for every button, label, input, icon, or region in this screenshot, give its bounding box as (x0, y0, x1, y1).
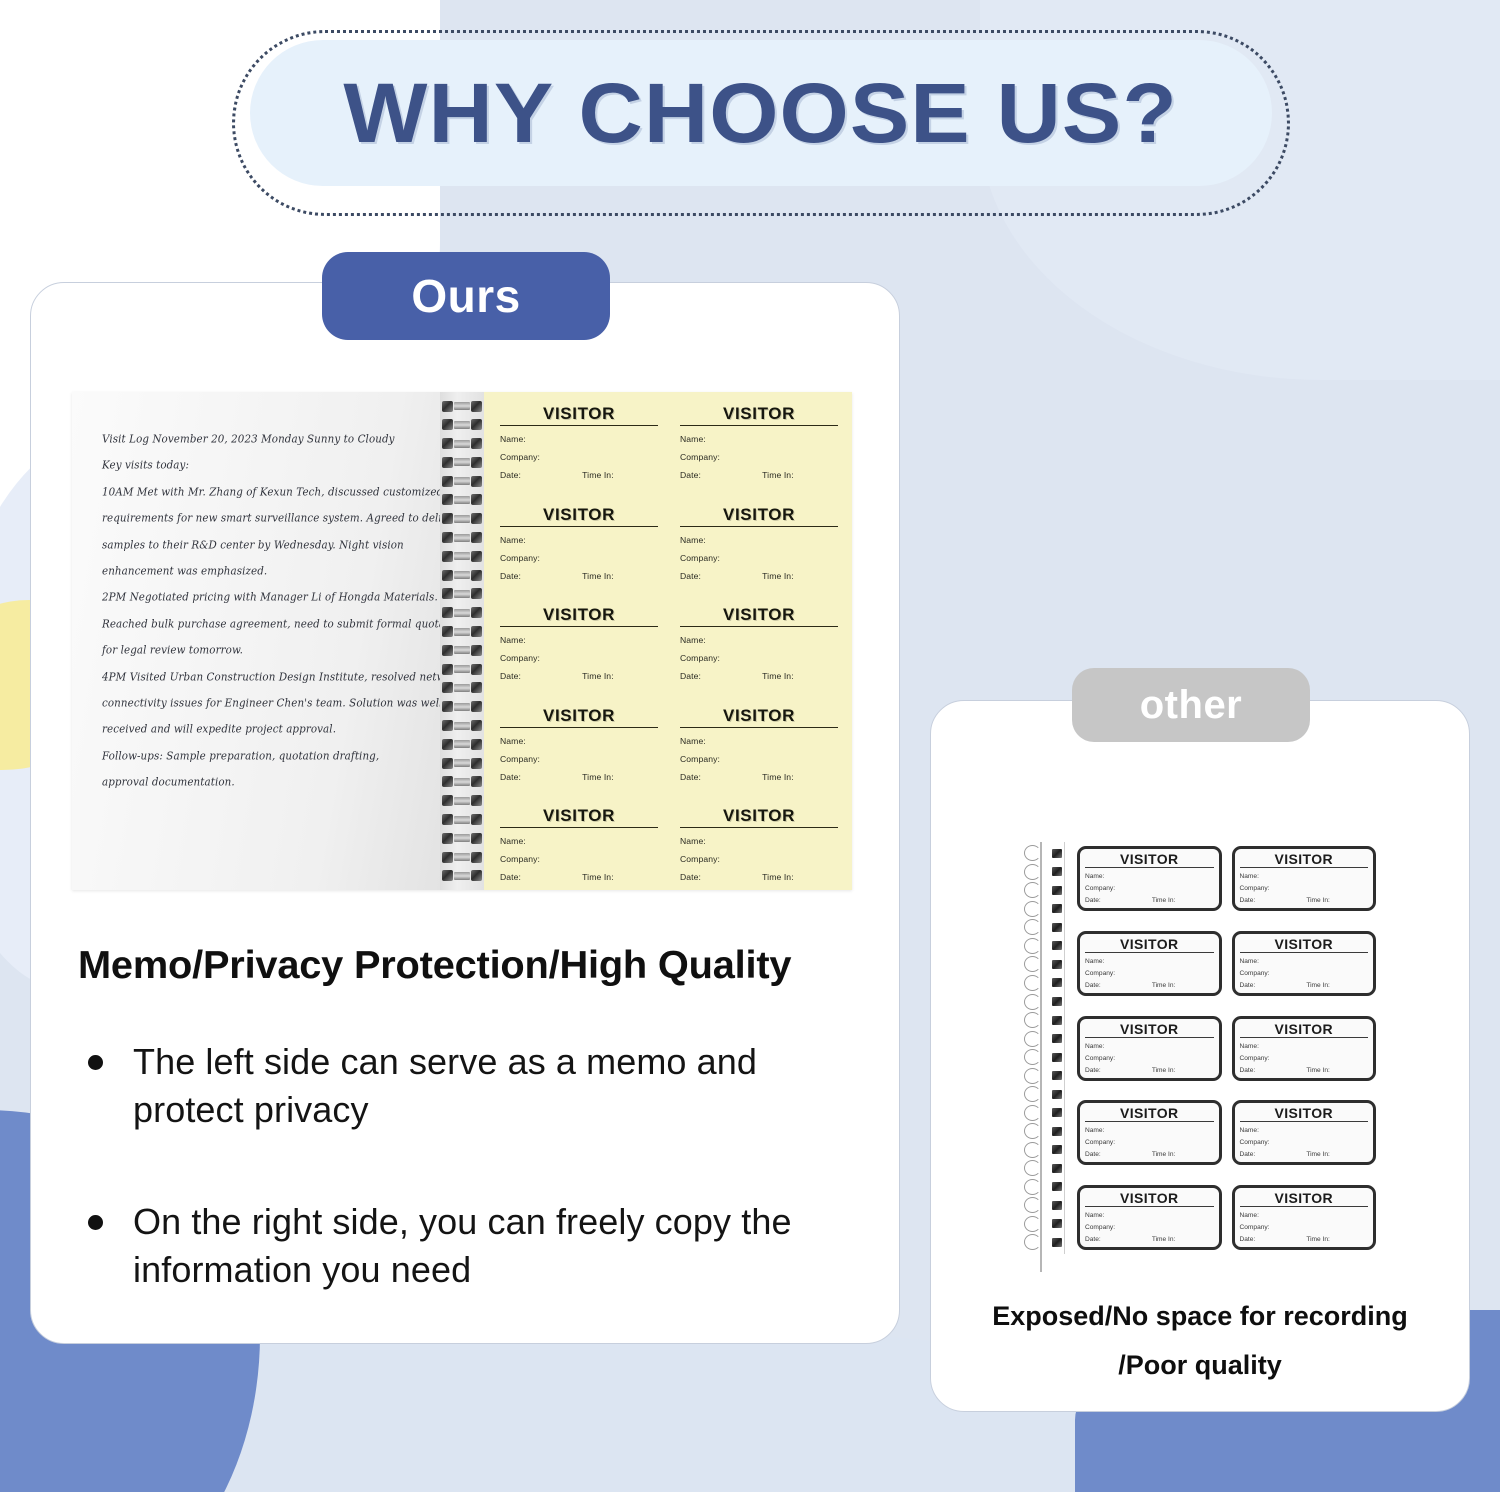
spiral-coil-wire (454, 402, 470, 410)
visitor-badge-row: VISITORName:Company:Date:Time In:VISITOR… (500, 706, 838, 782)
spiral-coil-wire (454, 477, 470, 485)
visitor-badge-title: VISITOR (1085, 1021, 1214, 1038)
visitor-field-date: Date: (1240, 1236, 1307, 1243)
page-title-banner: WHY CHOOSE US? (250, 40, 1272, 186)
visitor-field-company: Company: (1240, 1055, 1369, 1062)
visitor-field-time-in: Time In: (762, 671, 794, 681)
visitor-badge-card: VISITORName:Company:Date:Time In: (1232, 931, 1377, 996)
spiral-coil-icon (442, 776, 482, 788)
spiral-coil-icon (442, 607, 482, 619)
spiral-coil-icon (442, 757, 482, 769)
visitor-field-name: Name: (680, 535, 838, 545)
visitor-field-company: Company: (1240, 1224, 1369, 1231)
feature-bullet-text: The left side can serve as a memo and pr… (133, 1038, 838, 1134)
visitor-badge-card: VISITORName:Company:Date:Time In: (680, 605, 838, 681)
visitor-field-name: Name: (1240, 1212, 1369, 1219)
spiral-coil-wire (454, 628, 470, 636)
spiral-coil-icon (1024, 1105, 1062, 1121)
visitor-badge-card: VISITORName:Company:Date:Time In: (500, 404, 658, 480)
ours-notebook-photo: Visit Log November 20, 2023 Monday Sunny… (72, 392, 852, 890)
visitor-field-company: Company: (680, 754, 838, 764)
visitor-field-date: Date: (680, 671, 762, 681)
spiral-coil-wire (454, 440, 470, 448)
visitor-badge-row: VISITORName:Company:Date:Time In:VISITOR… (500, 806, 838, 882)
memo-line: Key visits today: (102, 451, 426, 481)
memo-line: for legal review tomorrow. (102, 636, 426, 666)
visitor-badge-card: VISITORName:Company:Date:Time In: (1077, 1185, 1222, 1250)
visitor-field-name: Name: (500, 836, 658, 846)
visitor-field-time-in: Time In: (1152, 897, 1176, 904)
spiral-coil-wire (454, 853, 470, 861)
spiral-coil-icon (442, 550, 482, 562)
visitor-field-company: Company: (500, 553, 658, 563)
ours-feature-list: The left side can serve as a memo and pr… (78, 1038, 838, 1358)
memo-line: 2PM Negotiated pricing with Manager Li o… (102, 583, 426, 613)
visitor-field-company: Company: (680, 553, 838, 563)
spiral-coil-icon (442, 644, 482, 656)
spiral-coil-icon (442, 475, 482, 487)
spiral-coil-wire (454, 609, 470, 617)
page-title: WHY CHOOSE US? (344, 65, 1178, 162)
spiral-coil-wire (454, 778, 470, 786)
visitor-badge-title: VISITOR (1240, 936, 1369, 953)
visitor-field-date: Date: (1240, 1067, 1307, 1074)
spiral-coil-icon (1024, 882, 1062, 898)
visitor-field-time-in: Time In: (582, 772, 614, 782)
visitor-field-company: Company: (1085, 1139, 1214, 1146)
visitor-field-row: Date:Time In: (500, 571, 658, 581)
visitor-field-name: Name: (1085, 1127, 1214, 1134)
spiral-coil-wire (454, 759, 470, 767)
visitor-field-row: Date:Time In: (680, 671, 838, 681)
visitor-field-row: Date:Time In: (1085, 1151, 1214, 1158)
visitor-badge-card: VISITORName:Company:Date:Time In: (1232, 1185, 1377, 1250)
spiral-coil-wire (454, 534, 470, 542)
visitor-field-name: Name: (1085, 958, 1214, 965)
spiral-coil-icon (442, 832, 482, 844)
visitor-field-name: Name: (1240, 1127, 1369, 1134)
visitor-field-row: Date:Time In: (680, 571, 838, 581)
visitor-badge-title: VISITOR (1085, 851, 1214, 868)
other-caption-line-2: /Poor quality (930, 1341, 1470, 1390)
visitor-field-row: Date:Time In: (1240, 1151, 1369, 1158)
visitor-field-row: Date:Time In: (1240, 1236, 1369, 1243)
memo-line: approval documentation. (102, 768, 426, 798)
visitor-field-company: Company: (1085, 885, 1214, 892)
ours-visitor-badge-page: VISITORName:Company:Date:Time In:VISITOR… (484, 392, 852, 890)
visitor-field-company: Company: (500, 854, 658, 864)
ours-badge-label: Ours (411, 269, 520, 323)
visitor-field-row: Date:Time In: (1085, 982, 1214, 989)
visitor-field-time-in: Time In: (1152, 982, 1176, 989)
visitor-badge-title: VISITOR (500, 605, 658, 627)
visitor-badge-title: VISITOR (1085, 936, 1214, 953)
spiral-coil-icon (1024, 1234, 1062, 1250)
spiral-coil-wire (454, 684, 470, 692)
visitor-field-company: Company: (680, 653, 838, 663)
spiral-coil-icon (1024, 1068, 1062, 1084)
bullet-dot-icon (88, 1215, 103, 1230)
spiral-coil-icon (1024, 1086, 1062, 1102)
visitor-badge-title: VISITOR (680, 605, 838, 627)
visitor-field-time-in: Time In: (1152, 1236, 1176, 1243)
visitor-badge-card: VISITORName:Company:Date:Time In: (680, 505, 838, 581)
visitor-badge-card: VISITORName:Company:Date:Time In: (1077, 846, 1222, 911)
spiral-coil-icon (442, 588, 482, 600)
visitor-field-time-in: Time In: (762, 571, 794, 581)
visitor-badge-card: VISITORName:Company:Date:Time In: (680, 404, 838, 480)
spiral-coil-icon (442, 682, 482, 694)
visitor-field-row: Date:Time In: (1085, 1236, 1214, 1243)
spiral-coil-wire (454, 496, 470, 504)
spiral-coil-icon (442, 419, 482, 431)
visitor-badge-title: VISITOR (1240, 1190, 1369, 1207)
visitor-badge-row: VISITORName:Company:Date:Time In:VISITOR… (1077, 1185, 1376, 1250)
memo-line: Reached bulk purchase agreement, need to… (102, 609, 426, 639)
visitor-field-company: Company: (1085, 1055, 1214, 1062)
visitor-badge-card: VISITORName:Company:Date:Time In: (1232, 846, 1377, 911)
spiral-coil-wire (454, 872, 470, 880)
other-visitor-badge-page: VISITORName:Company:Date:Time In:VISITOR… (1064, 842, 1382, 1254)
visitor-field-date: Date: (1085, 1236, 1152, 1243)
spiral-coil-wire (454, 797, 470, 805)
visitor-field-company: Company: (680, 452, 838, 462)
visitor-field-name: Name: (500, 535, 658, 545)
visitor-field-date: Date: (1240, 1151, 1307, 1158)
spiral-coil-icon (442, 870, 482, 882)
spiral-coil-wire (454, 646, 470, 654)
visitor-field-time-in: Time In: (1152, 1151, 1176, 1158)
visitor-field-name: Name: (1085, 873, 1214, 880)
visitor-field-row: Date:Time In: (1085, 1067, 1214, 1074)
feature-bullet-text: On the right side, you can freely copy t… (133, 1198, 838, 1294)
other-caption-line-1: Exposed/No space for recording (930, 1292, 1470, 1341)
spiral-coil-wire (454, 571, 470, 579)
feature-bullet: The left side can serve as a memo and pr… (78, 1038, 838, 1134)
other-label-badge: other (1072, 668, 1310, 742)
spiral-coil-icon (442, 851, 482, 863)
spiral-coil-icon (1024, 1031, 1062, 1047)
visitor-field-company: Company: (1240, 885, 1369, 892)
memo-line: 4PM Visited Urban Construction Design In… (102, 662, 426, 692)
visitor-field-time-in: Time In: (1306, 897, 1330, 904)
spiral-coil-icon (442, 569, 482, 581)
visitor-badge-title: VISITOR (1240, 1105, 1369, 1122)
visitor-field-time-in: Time In: (582, 671, 614, 681)
visitor-field-time-in: Time In: (762, 772, 794, 782)
visitor-field-company: Company: (1085, 1224, 1214, 1231)
other-badge-label: other (1140, 683, 1243, 728)
spiral-coil-icon (1024, 1216, 1062, 1232)
visitor-field-row: Date:Time In: (1240, 897, 1369, 904)
spiral-coil-icon (1024, 938, 1062, 954)
visitor-field-time-in: Time In: (1152, 1067, 1176, 1074)
visitor-field-name: Name: (680, 836, 838, 846)
visitor-badge-title: VISITOR (1240, 851, 1369, 868)
spiral-coil-wire (454, 665, 470, 673)
visitor-badge-title: VISITOR (680, 706, 838, 728)
visitor-field-name: Name: (680, 635, 838, 645)
visitor-field-company: Company: (500, 754, 658, 764)
visitor-field-row: Date:Time In: (1085, 897, 1214, 904)
visitor-badge-title: VISITOR (680, 505, 838, 527)
spiral-coil-icon (442, 701, 482, 713)
visitor-badge-title: VISITOR (1240, 1021, 1369, 1038)
feature-bullet: On the right side, you can freely copy t… (78, 1198, 838, 1294)
visitor-field-company: Company: (1085, 970, 1214, 977)
visitor-badge-card: VISITORName:Company:Date:Time In: (500, 706, 658, 782)
visitor-badge-title: VISITOR (500, 505, 658, 527)
visitor-field-name: Name: (1240, 958, 1369, 965)
visitor-field-date: Date: (1240, 982, 1307, 989)
visitor-field-name: Name: (500, 736, 658, 746)
visitor-badge-card: VISITORName:Company:Date:Time In: (1232, 1016, 1377, 1081)
visitor-field-name: Name: (1240, 1043, 1369, 1050)
visitor-field-row: Date:Time In: (500, 671, 658, 681)
visitor-badge-card: VISITORName:Company:Date:Time In: (1077, 1100, 1222, 1165)
memo-line: requirements for new smart surveillance … (102, 504, 426, 534)
visitor-field-row: Date:Time In: (500, 872, 658, 882)
spiral-coil-icon (1024, 1123, 1062, 1139)
visitor-field-date: Date: (500, 470, 582, 480)
visitor-badge-title: VISITOR (500, 806, 658, 828)
visitor-badge-card: VISITORName:Company:Date:Time In: (500, 505, 658, 581)
visitor-field-date: Date: (1085, 1151, 1152, 1158)
visitor-field-row: Date:Time In: (1240, 982, 1369, 989)
spiral-coil-wire (454, 722, 470, 730)
spiral-coil-icon (1024, 975, 1062, 991)
visitor-field-row: Date:Time In: (1240, 1067, 1369, 1074)
spiral-coil-icon (442, 795, 482, 807)
visitor-field-time-in: Time In: (582, 571, 614, 581)
visitor-field-company: Company: (680, 854, 838, 864)
spiral-coil-icon (442, 532, 482, 544)
visitor-field-name: Name: (1085, 1043, 1214, 1050)
visitor-badge-card: VISITORName:Company:Date:Time In: (1077, 931, 1222, 996)
visitor-field-row: Date:Time In: (680, 470, 838, 480)
spiral-coil-icon (1024, 901, 1062, 917)
visitor-field-time-in: Time In: (762, 872, 794, 882)
visitor-field-row: Date:Time In: (680, 872, 838, 882)
visitor-badge-row: VISITORName:Company:Date:Time In:VISITOR… (500, 505, 838, 581)
visitor-field-time-in: Time In: (762, 470, 794, 480)
comparison-infographic: WHY CHOOSE US? Visit Log November 20, 20… (0, 0, 1500, 1492)
spiral-coil-icon (442, 663, 482, 675)
visitor-field-company: Company: (1240, 1139, 1369, 1146)
visitor-field-company: Company: (500, 452, 658, 462)
ours-label-badge: Ours (322, 252, 610, 340)
visitor-field-name: Name: (500, 434, 658, 444)
visitor-field-row: Date:Time In: (500, 772, 658, 782)
spiral-coil-wire (454, 703, 470, 711)
visitor-field-date: Date: (500, 571, 582, 581)
visitor-field-name: Name: (1085, 1212, 1214, 1219)
visitor-badge-title: VISITOR (1085, 1105, 1214, 1122)
spiral-coil-icon (442, 720, 482, 732)
memo-line: received and will expedite project appro… (102, 715, 426, 745)
visitor-field-row: Date:Time In: (500, 470, 658, 480)
spiral-coil-wire (454, 590, 470, 598)
other-caption: Exposed/No space for recording /Poor qua… (930, 1292, 1470, 1390)
visitor-field-name: Name: (680, 736, 838, 746)
visitor-badge-title: VISITOR (1085, 1190, 1214, 1207)
visitor-badge-card: VISITORName:Company:Date:Time In: (1232, 1100, 1377, 1165)
spiral-coil-icon (442, 456, 482, 468)
spiral-coil-icon (442, 400, 482, 412)
visitor-field-row: Date:Time In: (680, 772, 838, 782)
visitor-badge-card: VISITORName:Company:Date:Time In: (680, 706, 838, 782)
visitor-badge-title: VISITOR (500, 706, 658, 728)
bullet-dot-icon (88, 1055, 103, 1070)
visitor-field-date: Date: (1085, 1067, 1152, 1074)
spiral-coil-wire (454, 740, 470, 748)
visitor-field-name: Name: (500, 635, 658, 645)
visitor-field-time-in: Time In: (1306, 1151, 1330, 1158)
visitor-field-date: Date: (680, 571, 762, 581)
spiral-coil-icon (1024, 1142, 1062, 1158)
spiral-coil-wire (454, 458, 470, 466)
spiral-coil-icon (442, 438, 482, 450)
memo-line: samples to their R&D center by Wednesday… (102, 530, 426, 560)
visitor-field-time-in: Time In: (582, 872, 614, 882)
spiral-coil-icon (442, 494, 482, 506)
visitor-field-date: Date: (680, 872, 762, 882)
spiral-coil-icon (1024, 1160, 1062, 1176)
spiral-coil-icon (1024, 1049, 1062, 1065)
ours-heading: Memo/Privacy Protection/High Quality (78, 944, 791, 988)
spiral-coil-wire (454, 421, 470, 429)
visitor-field-time-in: Time In: (1306, 982, 1330, 989)
spiral-coil-icon (1024, 956, 1062, 972)
spiral-coil-wire (454, 552, 470, 560)
visitor-badge-row: VISITORName:Company:Date:Time In:VISITOR… (1077, 1016, 1376, 1081)
visitor-badge-card: VISITORName:Company:Date:Time In: (680, 806, 838, 882)
visitor-field-date: Date: (500, 772, 582, 782)
visitor-field-name: Name: (680, 434, 838, 444)
visitor-badge-card: VISITORName:Company:Date:Time In: (500, 605, 658, 681)
visitor-badge-title: VISITOR (500, 404, 658, 426)
spiral-coil-wire (454, 816, 470, 824)
visitor-field-time-in: Time In: (582, 470, 614, 480)
visitor-field-name: Name: (1240, 873, 1369, 880)
visitor-badge-row: VISITORName:Company:Date:Time In:VISITOR… (500, 404, 838, 480)
spiral-coil-icon (442, 513, 482, 525)
visitor-field-date: Date: (1085, 897, 1152, 904)
visitor-badge-title: VISITOR (680, 806, 838, 828)
visitor-badge-row: VISITORName:Company:Date:Time In:VISITOR… (500, 605, 838, 681)
other-spiral-binding (1022, 842, 1064, 1254)
other-notebook-photo: VISITORName:Company:Date:Time In:VISITOR… (1022, 842, 1382, 1254)
visitor-field-company: Company: (500, 653, 658, 663)
spiral-coil-icon (1024, 1179, 1062, 1195)
ours-memo-page: Visit Log November 20, 2023 Monday Sunny… (72, 392, 440, 890)
visitor-badge-title: VISITOR (680, 404, 838, 426)
spiral-coil-icon (1024, 1012, 1062, 1028)
spiral-coil-icon (442, 814, 482, 826)
visitor-field-date: Date: (1240, 897, 1307, 904)
spiral-coil-icon (1024, 845, 1062, 861)
spiral-coil-icon (1024, 1197, 1062, 1213)
visitor-field-date: Date: (500, 671, 582, 681)
spiral-coil-icon (1024, 919, 1062, 935)
visitor-badge-card: VISITORName:Company:Date:Time In: (1077, 1016, 1222, 1081)
visitor-field-company: Company: (1240, 970, 1369, 977)
visitor-badge-row: VISITORName:Company:Date:Time In:VISITOR… (1077, 846, 1376, 911)
visitor-field-time-in: Time In: (1306, 1236, 1330, 1243)
visitor-field-date: Date: (680, 470, 762, 480)
spiral-coil-wire (454, 515, 470, 523)
spiral-coil-icon (442, 738, 482, 750)
ours-spiral-binding (440, 392, 484, 890)
visitor-badge-row: VISITORName:Company:Date:Time In:VISITOR… (1077, 931, 1376, 996)
visitor-field-date: Date: (680, 772, 762, 782)
visitor-field-date: Date: (500, 872, 582, 882)
visitor-badge-card: VISITORName:Company:Date:Time In: (500, 806, 658, 882)
spiral-coil-wire (454, 834, 470, 842)
spiral-coil-icon (1024, 864, 1062, 880)
spiral-coil-icon (1024, 994, 1062, 1010)
visitor-field-time-in: Time In: (1306, 1067, 1330, 1074)
spiral-coil-icon (442, 626, 482, 638)
visitor-badge-row: VISITORName:Company:Date:Time In:VISITOR… (1077, 1100, 1376, 1165)
memo-line: 10AM Met with Mr. Zhang of Kexun Tech, d… (102, 477, 426, 507)
visitor-field-date: Date: (1085, 982, 1152, 989)
